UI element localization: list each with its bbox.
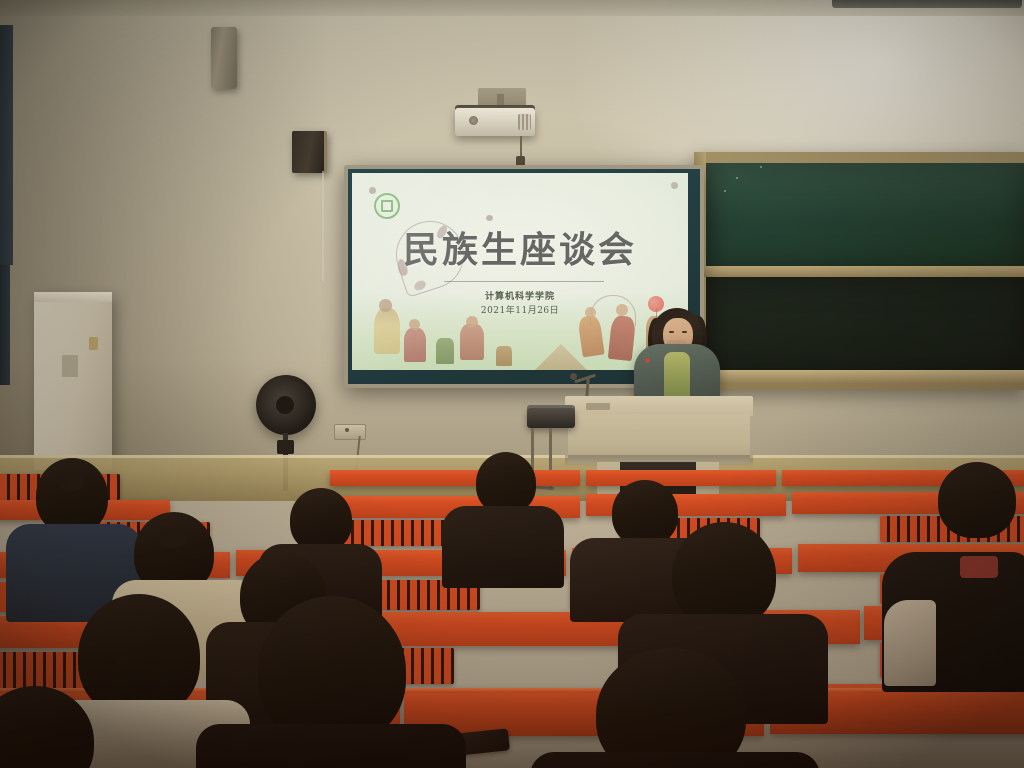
- blackboard-glare: [706, 163, 1024, 223]
- door-frame-left-lower: [0, 265, 10, 385]
- slide-title: 民族生座谈会: [352, 231, 688, 271]
- student-jacket-sleeve: [884, 600, 936, 686]
- red-lantern-icon: [648, 296, 664, 312]
- student-head: [476, 452, 536, 514]
- presentation-slide: 民族生座谈会 计算机科学学院 2021年11月26日: [352, 173, 688, 370]
- chalk-speck: [760, 166, 762, 168]
- green-circular-seal-icon: [374, 193, 400, 219]
- student-torso: [530, 752, 820, 768]
- illustration-figure: [436, 338, 454, 364]
- wall-speaker-icon: [211, 27, 237, 89]
- projector-cable: [520, 136, 522, 158]
- student-collar-accent: [960, 556, 998, 578]
- air-conditioner-cabinet-icon: [34, 292, 112, 470]
- dancing-figure-head: [585, 307, 596, 318]
- slide-dot: [671, 182, 678, 189]
- lectern-label-plate: [586, 403, 610, 410]
- door-frame-left: [0, 25, 13, 265]
- wall-box-cable: [322, 171, 324, 281]
- student-torso: [196, 724, 466, 768]
- student-head: [938, 462, 1016, 538]
- outlet-socket: [345, 428, 349, 432]
- blackboard-chalk-tray: [694, 370, 1024, 384]
- cabinet-top: [34, 292, 112, 302]
- student-hair-bun: [158, 528, 188, 548]
- projector-lens-icon: [469, 116, 478, 125]
- desk-row: [330, 470, 580, 486]
- slide-date: 2021年11月26日: [352, 305, 688, 317]
- fan-hub: [276, 396, 294, 414]
- ceiling-light-fixture-icon: [832, 0, 1022, 8]
- cabinet-label: [89, 337, 98, 350]
- student-torso: [442, 506, 564, 588]
- illustration-figure-head: [409, 319, 420, 330]
- wall-outlet-icon: [334, 424, 366, 440]
- illustration-figure-head: [379, 299, 392, 312]
- slide-dot: [369, 187, 376, 194]
- dancing-figure-head: [616, 304, 628, 316]
- illustration-figure: [404, 328, 426, 362]
- projector-vent: [518, 114, 531, 130]
- chalk-speck: [736, 177, 738, 179]
- slide-dot: [486, 215, 493, 221]
- blackboard-middle-rail: [700, 266, 1024, 277]
- presenter-eye: [669, 331, 674, 333]
- student-head: [36, 458, 108, 534]
- wall-control-box-icon: [292, 131, 327, 173]
- cabinet-vent: [62, 355, 78, 377]
- dancing-figure: [608, 315, 636, 361]
- desk-row: [586, 470, 776, 486]
- illustration-figure-head: [466, 316, 478, 328]
- blackboard-lower-panel: [706, 277, 1024, 372]
- student-head: [612, 480, 678, 546]
- chalk-speck: [724, 190, 726, 192]
- illustration-figure: [374, 308, 400, 354]
- fan-control-box: [277, 440, 294, 454]
- presenter-eye: [682, 331, 687, 333]
- student-head: [672, 522, 776, 628]
- document-camera-icon: [527, 408, 575, 428]
- illustration-figure: [460, 324, 484, 360]
- classroom-photo-scene: 民族生座谈会 计算机科学学院 2021年11月26日: [0, 0, 1024, 768]
- illustration-figure: [496, 346, 512, 366]
- presenter-badge: [645, 358, 650, 363]
- student-head: [596, 648, 746, 768]
- student-head: [290, 488, 352, 552]
- student-hair-tie: [58, 474, 84, 492]
- slide-divider: [444, 281, 604, 282]
- slide-organization: 计算机科学学院: [352, 291, 688, 304]
